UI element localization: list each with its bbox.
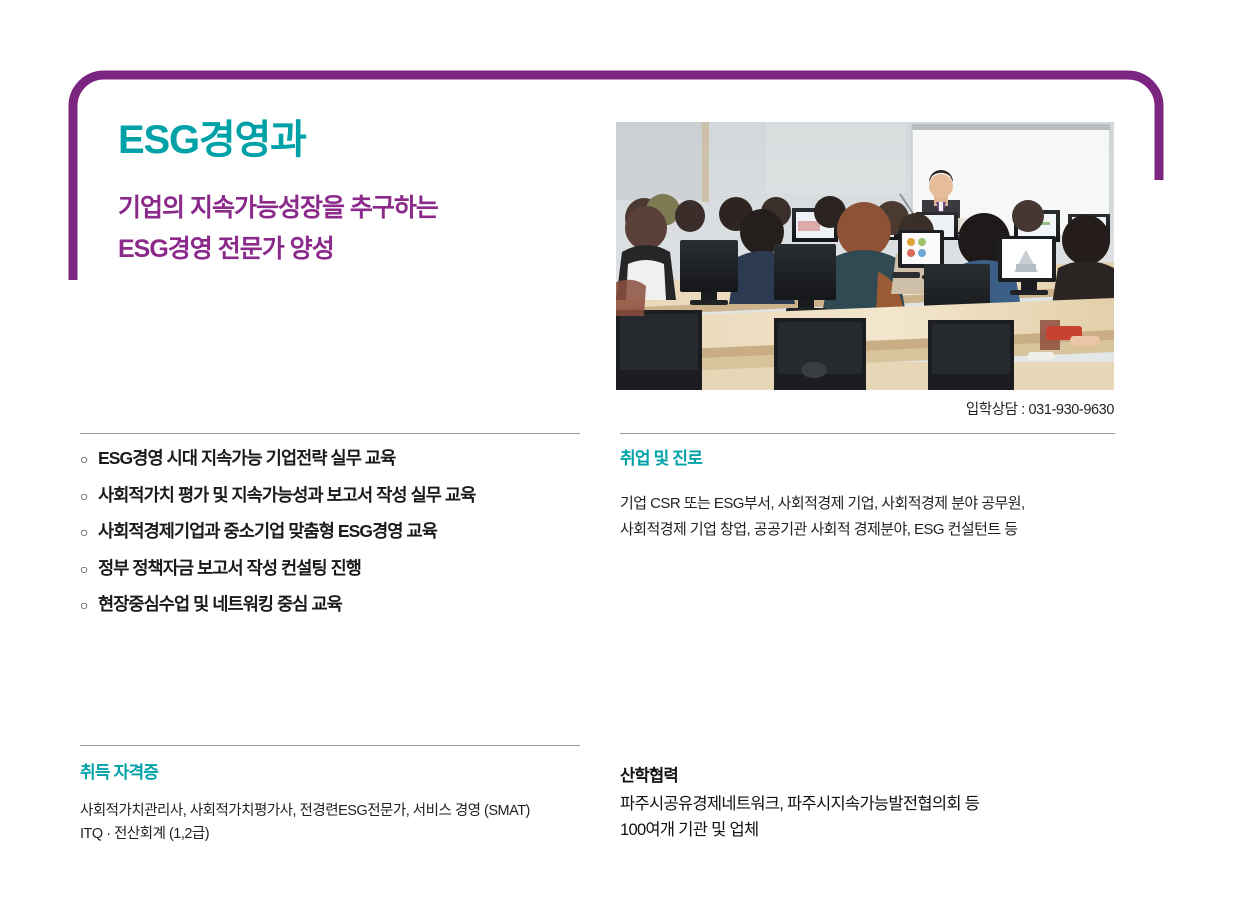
- page-title: ESG경영과: [118, 118, 598, 162]
- career-line-2: 사회적경제 기업 창업, 공공기관 사회적 경제분야, ESG 컨설턴트 등: [620, 517, 1120, 543]
- cooperation-heading: 산학협력: [620, 762, 1120, 786]
- department-header: ESG경영과 기업의 지속가능성장을 추구하는 ESG경영 전문가 양성: [118, 118, 598, 269]
- career-section: 취업 및 진로 기업 CSR 또는 ESG부서, 사회적경제 기업, 사회적경제…: [620, 444, 1120, 544]
- list-item: ○ 사회적가치 평가 및 지속가능성과 보고서 작성 실무 교육: [80, 487, 600, 505]
- admissions-contact: 입학상담 : 031-930-9630: [616, 398, 1114, 419]
- circle-bullet-icon: ○: [80, 525, 98, 539]
- tagline-line-2: ESG경영 전문가 양성: [118, 229, 598, 270]
- classroom-photo: [616, 122, 1114, 390]
- cooperation-line-2: 100여개 기관 및 업체: [620, 818, 1120, 844]
- list-item: ○ 사회적경제기업과 중소기업 맞춤형 ESG경영 교육: [80, 523, 600, 541]
- divider-right-top: [620, 433, 1115, 434]
- list-item-label: 현장중심수업 및 네트워킹 중심 교육: [98, 596, 342, 614]
- career-body: 기업 CSR 또는 ESG부서, 사회적경제 기업, 사회적경제 분야 공무원,…: [620, 491, 1120, 544]
- circle-bullet-icon: ○: [80, 598, 98, 612]
- certifications-section: 취득 자격증 사회적가치관리사, 사회적가치평가사, 전경련ESG전문가, 서비…: [80, 758, 600, 846]
- career-line-1: 기업 CSR 또는 ESG부서, 사회적경제 기업, 사회적경제 분야 공무원,: [620, 491, 1120, 517]
- list-item-label: 정부 정책자금 보고서 작성 컨설팅 진행: [98, 560, 361, 578]
- list-item: ○ ESG경영 시대 지속가능 기업전략 실무 교육: [80, 450, 600, 468]
- certifications-line-2: ITQ · 전산회계 (1,2급): [80, 823, 600, 846]
- cooperation-line-1: 파주시공유경제네트워크, 파주시지속가능발전협의회 등: [620, 792, 1120, 818]
- circle-bullet-icon: ○: [80, 562, 98, 576]
- list-item-label: 사회적경제기업과 중소기업 맞춤형 ESG경영 교육: [98, 523, 437, 541]
- career-heading: 취업 및 진로: [620, 444, 1120, 469]
- list-item-label: ESG경영 시대 지속가능 기업전략 실무 교육: [98, 450, 395, 468]
- list-item: ○ 현장중심수업 및 네트워킹 중심 교육: [80, 596, 600, 614]
- brochure-page: ESG경영과 기업의 지속가능성장을 추구하는 ESG경영 전문가 양성: [0, 0, 1240, 915]
- certifications-line-1: 사회적가치관리사, 사회적가치평가사, 전경련ESG전문가, 서비스 경영 (S…: [80, 800, 600, 823]
- divider-left-bottom: [80, 745, 580, 746]
- list-item: ○ 정부 정책자금 보고서 작성 컨설팅 진행: [80, 560, 600, 578]
- cooperation-section: 산학협력 파주시공유경제네트워크, 파주시지속가능발전협의회 등 100여개 기…: [620, 762, 1120, 843]
- cooperation-body: 파주시공유경제네트워크, 파주시지속가능발전협의회 등 100여개 기관 및 업…: [620, 792, 1120, 843]
- curriculum-list: ○ ESG경영 시대 지속가능 기업전략 실무 교육 ○ 사회적가치 평가 및 …: [80, 450, 600, 633]
- circle-bullet-icon: ○: [80, 452, 98, 466]
- divider-left-top: [80, 433, 580, 434]
- tagline-line-1: 기업의 지속가능성장을 추구하는: [118, 188, 598, 229]
- list-item-label: 사회적가치 평가 및 지속가능성과 보고서 작성 실무 교육: [98, 487, 475, 505]
- circle-bullet-icon: ○: [80, 489, 98, 503]
- certifications-heading: 취득 자격증: [80, 758, 600, 783]
- certifications-body: 사회적가치관리사, 사회적가치평가사, 전경련ESG전문가, 서비스 경영 (S…: [80, 800, 600, 846]
- department-tagline: 기업의 지속가능성장을 추구하는 ESG경영 전문가 양성: [118, 188, 598, 269]
